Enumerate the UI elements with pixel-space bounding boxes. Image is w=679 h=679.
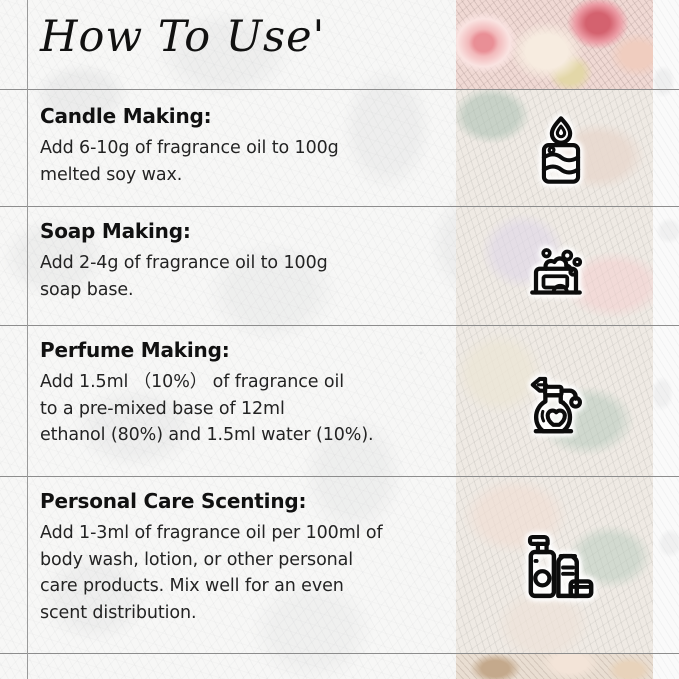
divider-after-title (0, 89, 679, 90)
body-line: Add 6-10g of fragrance oil to 100g (40, 135, 339, 162)
section-body-candle-making: Add 6-10g of fragrance oil to 100g melte… (40, 135, 339, 188)
section-candle-making: Candle Making: Add 6-10g of fragrance oi… (40, 104, 339, 188)
divider-after-soap (0, 325, 679, 326)
page-title: How To Use' (40, 12, 325, 62)
body-line: ethanol (80%) and 1.5ml water (10%). (40, 422, 374, 449)
cosmetics-icon (516, 522, 606, 612)
section-perfume-making: Perfume Making: Add 1.5ml （10%） of fragr… (40, 338, 374, 449)
divider-after-candle (0, 206, 679, 207)
section-personal-care-scenting: Personal Care Scenting: Add 1-3ml of fra… (40, 489, 383, 626)
section-body-perfume-making: Add 1.5ml （10%） of fragrance oil to a pr… (40, 369, 374, 449)
divider-after-personal-care (0, 653, 679, 654)
section-body-soap-making: Add 2-4g of fragrance oil to 100g soap b… (40, 250, 328, 303)
section-body-personal-care-scenting: Add 1-3ml of fragrance oil per 100ml of … (40, 520, 383, 626)
section-heading-perfume-making: Perfume Making: (40, 338, 374, 362)
body-line: scent distribution. (40, 600, 383, 627)
body-line: soap base. (40, 277, 328, 304)
body-line: care products. Mix well for an even (40, 573, 383, 600)
how-to-use-infographic: How To Use' Candle Making: Add 6-10g of … (0, 0, 679, 679)
candle-icon (516, 105, 606, 195)
rose-illustration-bottom (456, 653, 653, 679)
perfume-bottle-icon (516, 358, 606, 448)
section-soap-making: Soap Making: Add 2-4g of fragrance oil t… (40, 219, 328, 303)
right-edge-texture (653, 0, 679, 679)
section-heading-candle-making: Candle Making: (40, 104, 339, 128)
section-heading-personal-care-scenting: Personal Care Scenting: (40, 489, 383, 513)
rose-illustration-top (456, 0, 653, 89)
divider-after-perfume (0, 476, 679, 477)
section-heading-soap-making: Soap Making: (40, 219, 328, 243)
body-line: melted soy wax. (40, 162, 339, 189)
body-line: to a pre-mixed base of 12ml (40, 396, 374, 423)
body-line: Add 1-3ml of fragrance oil per 100ml of (40, 520, 383, 547)
body-line: Add 2-4g of fragrance oil to 100g (40, 250, 328, 277)
left-margin-rule (27, 0, 28, 679)
soap-bar-icon (516, 225, 606, 315)
body-line: body wash, lotion, or other personal (40, 547, 383, 574)
body-line: Add 1.5ml （10%） of fragrance oil (40, 369, 374, 396)
